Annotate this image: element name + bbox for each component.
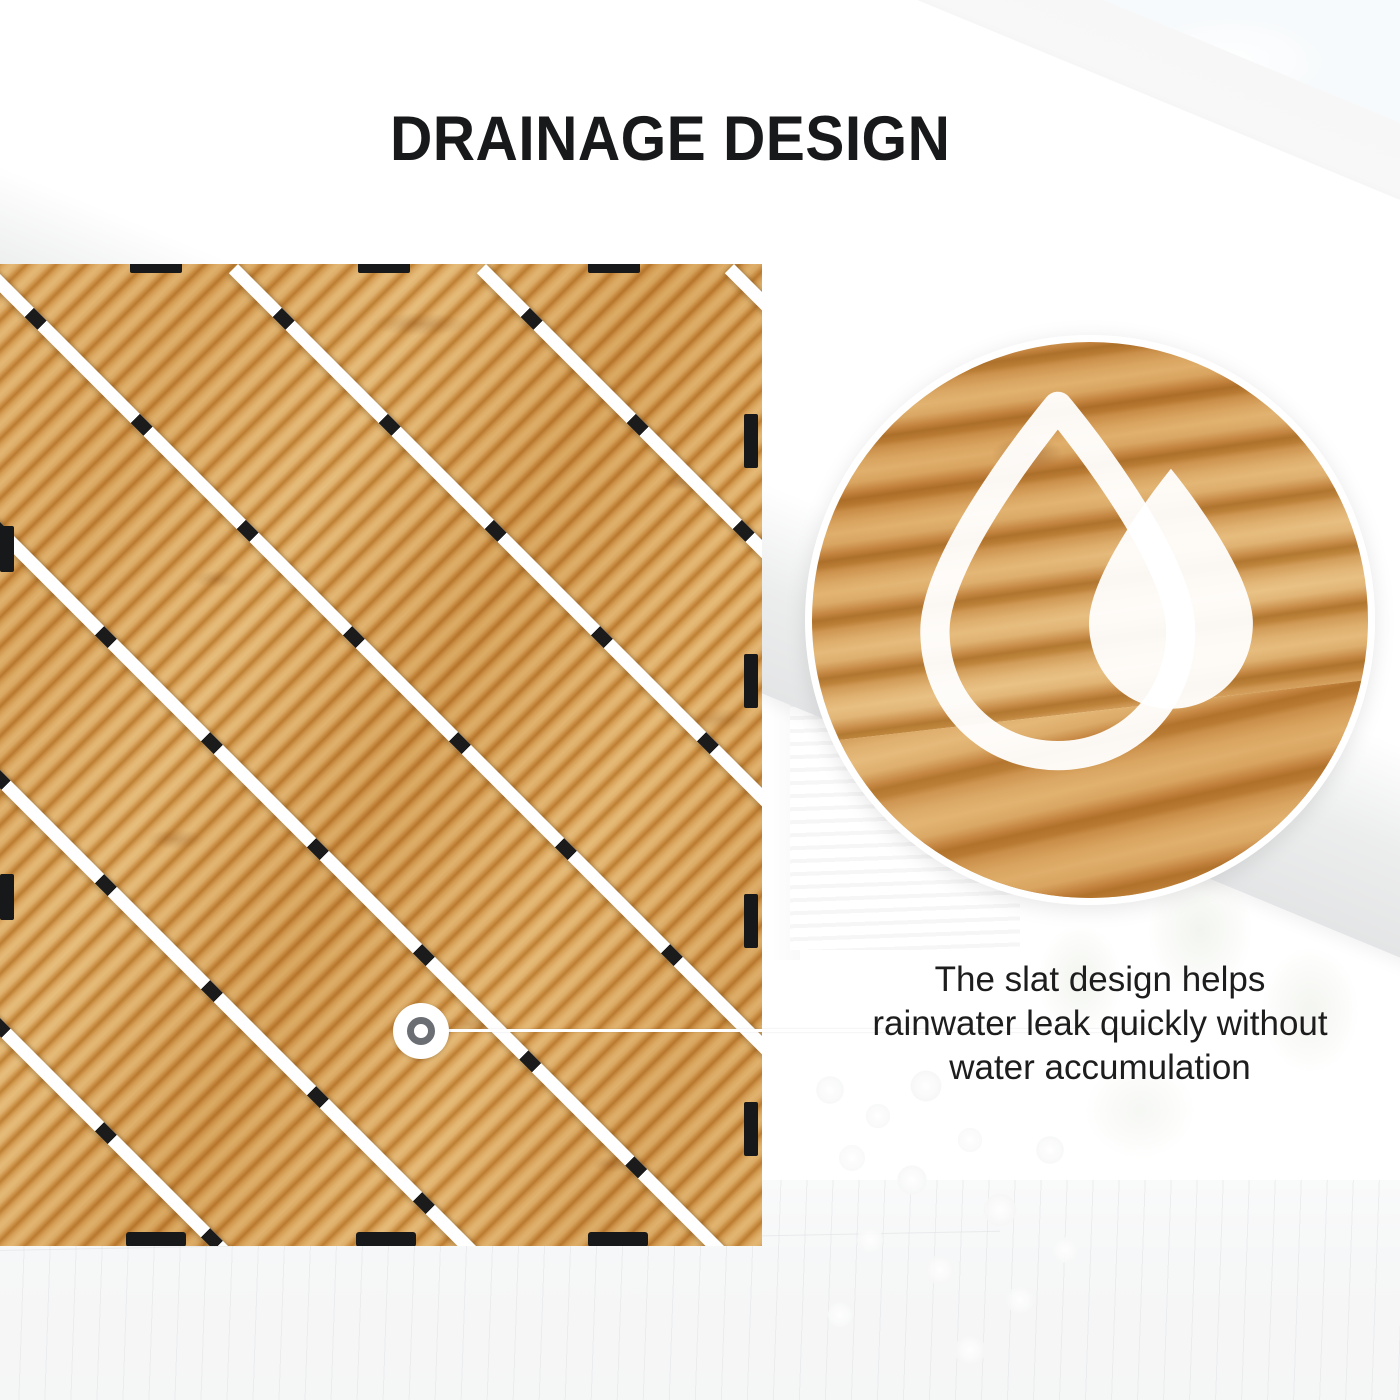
connector-tab (358, 264, 410, 273)
wood-deck-tile (0, 264, 762, 1246)
connector-tab (130, 264, 182, 273)
zoom-detail-circle (805, 335, 1375, 905)
callout-target-marker (393, 1003, 449, 1059)
water-droplet-icon (812, 342, 1368, 898)
connector-tab (744, 894, 758, 948)
caption-line-2: rainwater leak quickly without (845, 1002, 1355, 1046)
connector-tab (588, 1232, 648, 1246)
connector-tab (744, 1102, 758, 1156)
connector-tab (744, 654, 758, 708)
connector-tab (588, 264, 640, 273)
connector-tab (744, 414, 758, 468)
connector-tab (126, 1232, 186, 1246)
caption-line-1: The slat design helps (845, 958, 1355, 1002)
product-feature-image: DRAINAGE DESIGN (0, 0, 1400, 1400)
feature-caption: The slat design helps rainwater leak qui… (845, 958, 1355, 1090)
page-title: DRAINAGE DESIGN (390, 108, 950, 171)
connector-tab (0, 874, 14, 920)
connector-tab (0, 526, 14, 572)
caption-line-3: water accumulation (845, 1046, 1355, 1090)
connector-tab (356, 1232, 416, 1246)
